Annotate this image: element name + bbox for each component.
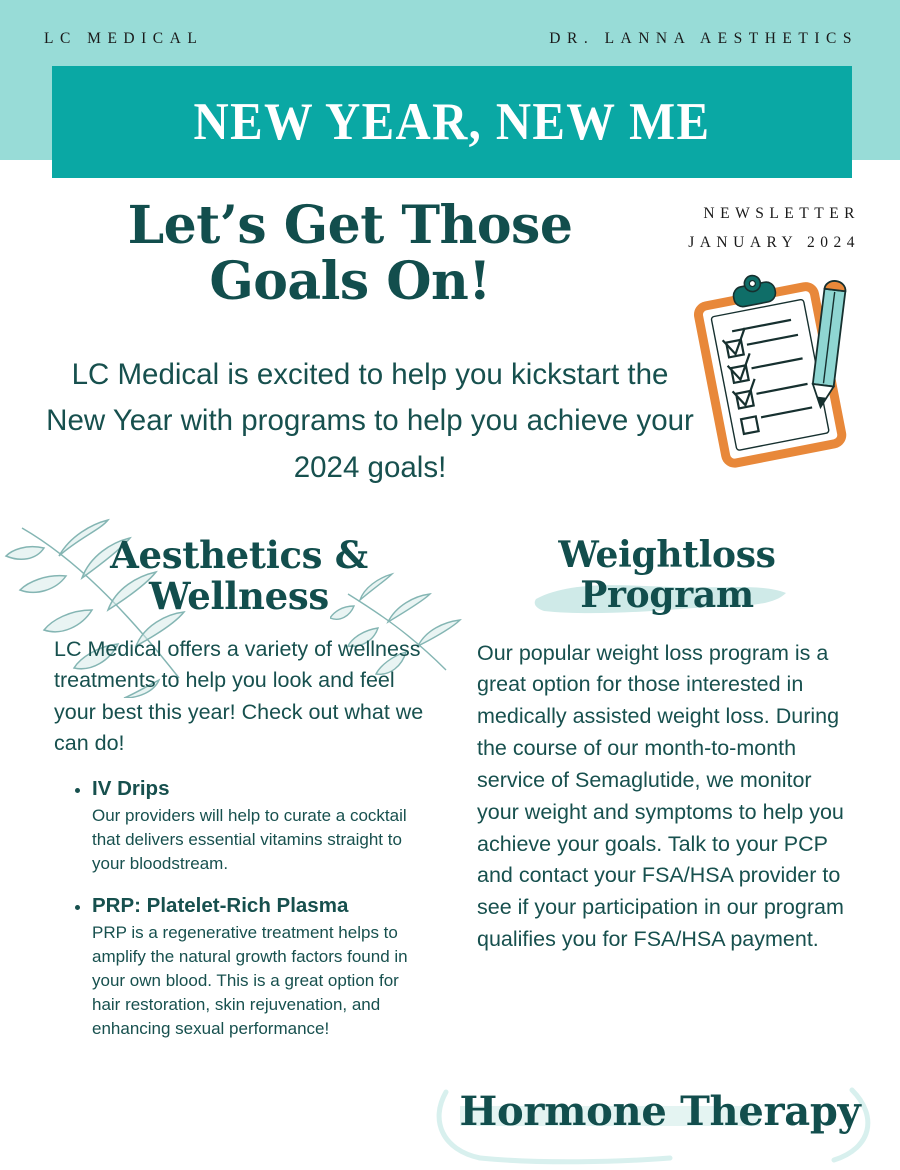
section-title-hormone-therapy: Hormone Therapy (420, 1088, 900, 1135)
list-item: IV Drips Our providers will help to cura… (92, 777, 424, 876)
intro-paragraph: LC Medical is excited to help you kickst… (40, 352, 700, 491)
clipboard-icon (650, 272, 900, 487)
list-item-description: Our providers will help to curate a cock… (92, 804, 424, 876)
list-item: PRP: Platelet-Rich Plasma PRP is a regen… (92, 894, 424, 1041)
issue-date: JANUARY 2024 (688, 229, 860, 258)
section-body-weightloss: Our popular weight loss program is a gre… (477, 638, 857, 956)
section-body-aesthetics: LC Medical offers a variety of wellness … (54, 634, 424, 760)
page-headline: Let’s Get Those Goals On! (60, 198, 640, 310)
newsletter-title-banner: NEW YEAR, NEW ME (52, 66, 852, 178)
issue-info: NEWSLETTER JANUARY 2024 (688, 200, 860, 257)
brand-name-left: LC MEDICAL (44, 30, 203, 48)
newsletter-title: NEW YEAR, NEW ME (194, 92, 711, 152)
treatment-list: IV Drips Our providers will help to cura… (54, 777, 424, 1041)
list-item-title: IV Drips (92, 777, 424, 802)
issue-label: NEWSLETTER (688, 200, 860, 229)
brand-name-right: DR. LANNA AESTHETICS (549, 30, 858, 48)
list-item-description: PRP is a regenerative treatment helps to… (92, 921, 424, 1042)
list-item-title: PRP: Platelet-Rich Plasma (92, 894, 424, 919)
section-hormone-therapy: Hormone Therapy (420, 1062, 900, 1165)
section-title-weightloss: Weightloss Program (477, 535, 857, 616)
section-aesthetics-wellness: Aesthetics & Wellness LC Medical offers … (54, 535, 424, 1060)
section-title-aesthetics: Aesthetics & Wellness (54, 535, 424, 618)
section-weightloss-program: Weightloss Program Our popular weight lo… (477, 535, 857, 956)
